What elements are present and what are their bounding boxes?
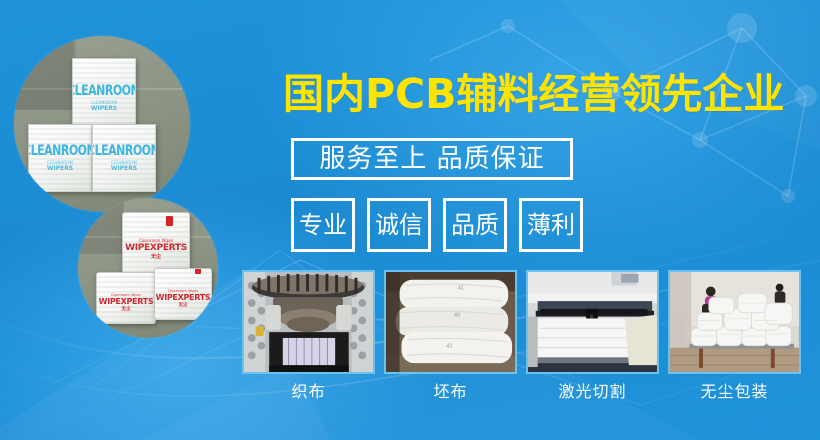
keyword-label: 薄利 bbox=[527, 213, 575, 237]
pack-sub-label-2: WIPERS bbox=[91, 105, 117, 112]
process-photo-item: 激光切割 bbox=[526, 270, 659, 400]
keyword-label: 品质 bbox=[451, 213, 499, 237]
process-photo-caption: 无尘包装 bbox=[700, 384, 768, 400]
pack-sub-label-2: WIPERS bbox=[47, 165, 73, 172]
greige-fabric-rolls-scene: 41 40 42 bbox=[386, 272, 515, 373]
promotional-banner: CLEANROOM CLEANROOM WIPERS CLEANROOM CLE… bbox=[0, 0, 820, 440]
keyword-label: 专业 bbox=[299, 213, 347, 237]
pack-mark-label: 无尘 bbox=[122, 306, 131, 312]
cleanroom-pack: CLEANROOM CLEANROOM WIPERS bbox=[28, 124, 92, 192]
keyword-box-integrity: 诚信 bbox=[367, 198, 431, 252]
shadow-patch bbox=[14, 36, 76, 110]
pack-sub-label-2: WIPERS bbox=[111, 165, 137, 172]
process-photo-caption: 坯布 bbox=[433, 384, 467, 400]
pack-top-label: Cleanroom Wiper bbox=[111, 292, 141, 296]
red-logo-tag bbox=[195, 268, 201, 274]
process-photo-item: 无尘包装 bbox=[668, 270, 801, 400]
wipexperts-wipes-photo: Cleanroom Wiper WIPEXPERTS 无尘 Cleanroom … bbox=[78, 198, 218, 338]
svg-text:42: 42 bbox=[446, 344, 452, 350]
pack-brand-label: CLEANROOM bbox=[72, 82, 136, 98]
subtitle-box: 服务至上 品质保证 bbox=[291, 138, 573, 180]
process-photo-greige-fabric: 41 40 42 bbox=[384, 270, 517, 374]
process-photo-caption: 激光切割 bbox=[558, 384, 626, 400]
pack-brand-label: WIPEXPERTS bbox=[99, 297, 154, 306]
process-photo-dustfree-packaging bbox=[668, 270, 801, 374]
svg-text:40: 40 bbox=[454, 313, 460, 319]
process-photo-item: 织布 bbox=[242, 270, 375, 400]
pack-mark-label: 无尘 bbox=[179, 302, 188, 308]
subtitle-text: 服务至上 品质保证 bbox=[319, 146, 544, 172]
pack-brand-label: WIPEXPERTS bbox=[125, 243, 187, 253]
svg-text:41: 41 bbox=[458, 285, 464, 291]
pack-brand-label: CLEANROOM bbox=[92, 142, 156, 158]
wipexperts-pack: Cleanroom Wiper WIPEXPERTS 无尘 bbox=[154, 268, 212, 320]
keyword-box-quality: 品质 bbox=[443, 198, 507, 252]
pack-top-label: Cleanroom Wiper bbox=[139, 238, 174, 243]
page-title: 国内PCB辅料经营领先企业 bbox=[283, 74, 784, 115]
pack-brand-label: WIPEXPERTS bbox=[156, 293, 211, 302]
dust-free-packaging-room-scene bbox=[670, 272, 799, 373]
process-photo-caption: 织布 bbox=[291, 384, 325, 400]
keyword-box-low-margin: 薄利 bbox=[519, 198, 583, 252]
cleanroom-pack: CLEANROOM CLEANROOM WIPERS bbox=[92, 124, 156, 192]
process-photo-item: 41 40 42 坯布 bbox=[384, 270, 517, 400]
pack-brand-label: CLEANROOM bbox=[28, 142, 92, 158]
keyword-box-professional: 专业 bbox=[291, 198, 355, 252]
pack-sub-label-1: CLEANROOM bbox=[111, 160, 137, 166]
keyword-label: 诚信 bbox=[375, 213, 423, 237]
shadow-patch bbox=[78, 198, 124, 254]
pack-top-label: Cleanroom Wiper bbox=[168, 288, 198, 292]
wipexperts-pack: Cleanroom Wiper WIPEXPERTS 无尘 bbox=[122, 212, 190, 274]
wipexperts-pack: Cleanroom Wiper WIPEXPERTS 无尘 bbox=[96, 272, 156, 324]
cleanroom-wipes-photo: CLEANROOM CLEANROOM WIPERS CLEANROOM CLE… bbox=[14, 36, 190, 212]
process-photo-strip: 织布 bbox=[242, 270, 801, 400]
red-logo-tag bbox=[166, 216, 173, 226]
pack-mark-label: 无尘 bbox=[151, 253, 161, 260]
pack-sub-label-1: CLEANROOM bbox=[47, 160, 73, 166]
pack-sub-label-1: CLEANROOM bbox=[91, 100, 117, 106]
circular-knitting-machine-scene bbox=[244, 272, 373, 373]
keyword-row: 专业 诚信 品质 薄利 bbox=[291, 198, 583, 252]
process-photo-weaving bbox=[242, 270, 375, 374]
process-photo-laser-cutting bbox=[526, 270, 659, 374]
laser-cutting-table-scene bbox=[528, 272, 657, 373]
